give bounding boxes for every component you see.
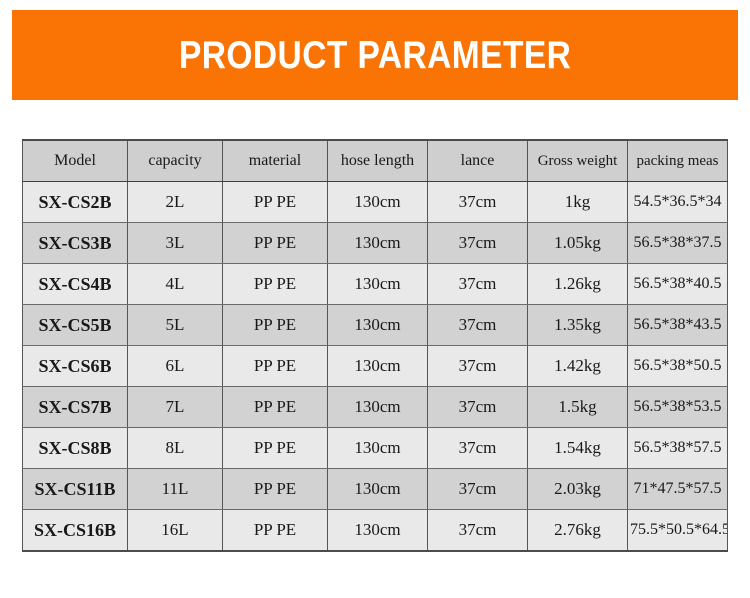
- column-header-capacity: capacity: [128, 140, 223, 182]
- cell-capacity: 7L: [128, 387, 223, 428]
- cell-hose-length: 130cm: [328, 469, 428, 510]
- cell-hose-length: 130cm: [328, 182, 428, 223]
- cell-hose-length: 130cm: [328, 510, 428, 552]
- cell-lance: 37cm: [428, 428, 528, 469]
- cell-packing-meas: 56.5*38*37.5: [628, 223, 728, 264]
- cell-lance: 37cm: [428, 223, 528, 264]
- table-row: SX-CS11B 11L PP PE 130cm 37cm 2.03kg 71*…: [23, 469, 728, 510]
- cell-packing-meas: 56.5*38*40.5: [628, 264, 728, 305]
- cell-hose-length: 130cm: [328, 346, 428, 387]
- cell-hose-length: 130cm: [328, 223, 428, 264]
- cell-packing-meas: 56.5*38*50.5: [628, 346, 728, 387]
- cell-material: PP PE: [223, 305, 328, 346]
- table-header-row: Model capacity material hose length lanc…: [23, 140, 728, 182]
- cell-lance: 37cm: [428, 510, 528, 552]
- product-parameter-table: Model capacity material hose length lanc…: [22, 139, 728, 552]
- table-row: SX-CS6B 6L PP PE 130cm 37cm 1.42kg 56.5*…: [23, 346, 728, 387]
- cell-hose-length: 130cm: [328, 305, 428, 346]
- cell-model: SX-CS8B: [23, 428, 128, 469]
- table-row: SX-CS3B 3L PP PE 130cm 37cm 1.05kg 56.5*…: [23, 223, 728, 264]
- cell-model: SX-CS7B: [23, 387, 128, 428]
- cell-lance: 37cm: [428, 182, 528, 223]
- cell-capacity: 3L: [128, 223, 223, 264]
- cell-lance: 37cm: [428, 469, 528, 510]
- cell-packing-meas: 56.5*38*53.5: [628, 387, 728, 428]
- table-row: SX-CS5B 5L PP PE 130cm 37cm 1.35kg 56.5*…: [23, 305, 728, 346]
- page-title: PRODUCT PARAMETER: [179, 36, 571, 75]
- column-header-packing-meas: packing meas: [628, 140, 728, 182]
- cell-capacity: 6L: [128, 346, 223, 387]
- cell-material: PP PE: [223, 346, 328, 387]
- column-header-lance: lance: [428, 140, 528, 182]
- cell-model: SX-CS2B: [23, 182, 128, 223]
- table-body: SX-CS2B 2L PP PE 130cm 37cm 1kg 54.5*36.…: [23, 182, 728, 552]
- cell-material: PP PE: [223, 510, 328, 552]
- cell-material: PP PE: [223, 428, 328, 469]
- cell-hose-length: 130cm: [328, 264, 428, 305]
- cell-gross-weight: 2.76kg: [528, 510, 628, 552]
- cell-capacity: 2L: [128, 182, 223, 223]
- cell-lance: 37cm: [428, 264, 528, 305]
- cell-model: SX-CS6B: [23, 346, 128, 387]
- cell-material: PP PE: [223, 264, 328, 305]
- cell-gross-weight: 1.42kg: [528, 346, 628, 387]
- cell-capacity: 8L: [128, 428, 223, 469]
- cell-packing-meas: 54.5*36.5*34: [628, 182, 728, 223]
- table-row: SX-CS2B 2L PP PE 130cm 37cm 1kg 54.5*36.…: [23, 182, 728, 223]
- cell-material: PP PE: [223, 182, 328, 223]
- table-row: SX-CS7B 7L PP PE 130cm 37cm 1.5kg 56.5*3…: [23, 387, 728, 428]
- cell-gross-weight: 1.26kg: [528, 264, 628, 305]
- cell-lance: 37cm: [428, 346, 528, 387]
- cell-packing-meas: 71*47.5*57.5: [628, 469, 728, 510]
- column-header-hose-length: hose length: [328, 140, 428, 182]
- cell-packing-meas: 75.5*50.5*64.5: [628, 510, 728, 552]
- spec-table-container: Model capacity material hose length lanc…: [22, 139, 727, 552]
- table-row: SX-CS16B 16L PP PE 130cm 37cm 2.76kg 75.…: [23, 510, 728, 552]
- cell-model: SX-CS11B: [23, 469, 128, 510]
- product-parameter-page: PRODUCT PARAMETER Model capacity materia…: [0, 0, 750, 598]
- cell-capacity: 4L: [128, 264, 223, 305]
- cell-packing-meas: 56.5*38*43.5: [628, 305, 728, 346]
- table-header: Model capacity material hose length lanc…: [23, 140, 728, 182]
- cell-hose-length: 130cm: [328, 387, 428, 428]
- cell-gross-weight: 1.05kg: [528, 223, 628, 264]
- cell-capacity: 5L: [128, 305, 223, 346]
- cell-gross-weight: 2.03kg: [528, 469, 628, 510]
- cell-model: SX-CS16B: [23, 510, 128, 552]
- page-banner: PRODUCT PARAMETER: [12, 10, 738, 100]
- column-header-material: material: [223, 140, 328, 182]
- cell-gross-weight: 1.35kg: [528, 305, 628, 346]
- cell-packing-meas: 56.5*38*57.5: [628, 428, 728, 469]
- cell-capacity: 16L: [128, 510, 223, 552]
- cell-material: PP PE: [223, 387, 328, 428]
- column-header-model: Model: [23, 140, 128, 182]
- cell-material: PP PE: [223, 223, 328, 264]
- cell-lance: 37cm: [428, 305, 528, 346]
- column-header-gross-weight: Gross weight: [528, 140, 628, 182]
- cell-gross-weight: 1.5kg: [528, 387, 628, 428]
- table-row: SX-CS4B 4L PP PE 130cm 37cm 1.26kg 56.5*…: [23, 264, 728, 305]
- cell-model: SX-CS4B: [23, 264, 128, 305]
- cell-gross-weight: 1.54kg: [528, 428, 628, 469]
- cell-hose-length: 130cm: [328, 428, 428, 469]
- cell-material: PP PE: [223, 469, 328, 510]
- cell-gross-weight: 1kg: [528, 182, 628, 223]
- cell-capacity: 11L: [128, 469, 223, 510]
- cell-lance: 37cm: [428, 387, 528, 428]
- cell-model: SX-CS3B: [23, 223, 128, 264]
- table-row: SX-CS8B 8L PP PE 130cm 37cm 1.54kg 56.5*…: [23, 428, 728, 469]
- cell-model: SX-CS5B: [23, 305, 128, 346]
